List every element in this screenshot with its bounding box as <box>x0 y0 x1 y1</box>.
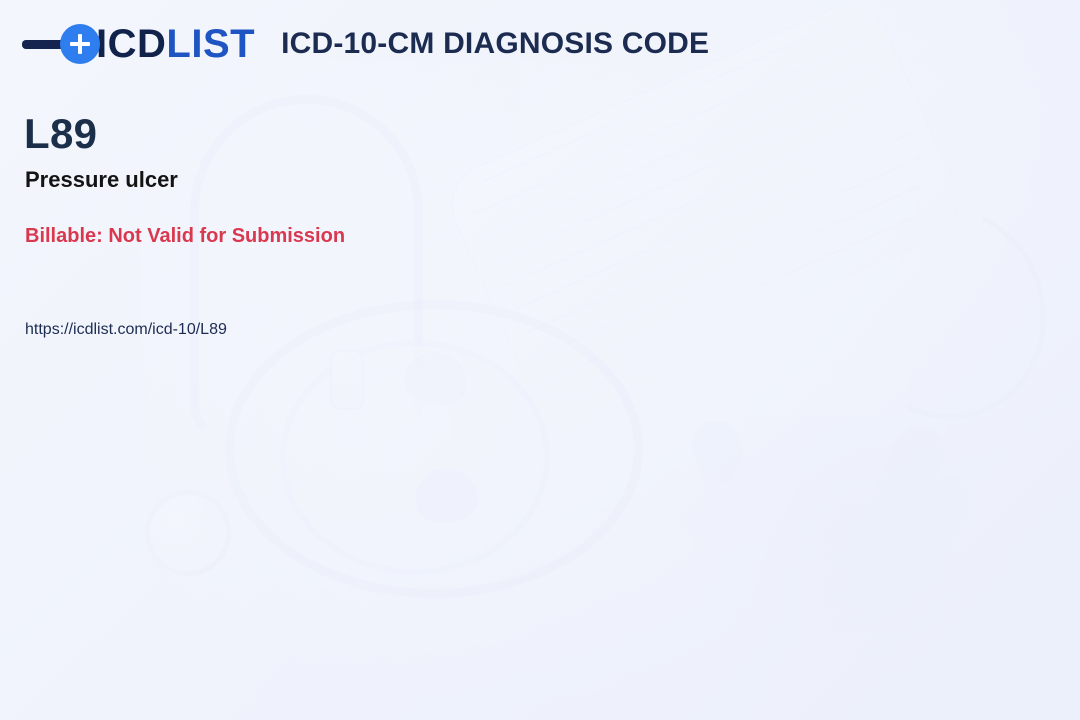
hand-finger-icon <box>686 415 763 525</box>
hand-icon <box>690 415 990 715</box>
poster-canvas: ICDLIST ICD-10-CM DIAGNOSIS CODE L89 Pre… <box>0 0 1080 720</box>
heart-icon <box>677 444 819 586</box>
hand-finger-icon <box>859 420 952 551</box>
stethoscope-eartip-b-icon <box>412 464 481 526</box>
stethoscope-loop-icon <box>225 300 643 598</box>
plus-icon <box>60 24 100 64</box>
site-logo[interactable]: ICDLIST <box>22 24 255 64</box>
stethoscope-stem-icon <box>330 350 364 410</box>
logo-wordmark: ICDLIST <box>96 24 255 64</box>
stethoscope-chestpiece-icon <box>280 340 550 575</box>
status-badge: Billable: Not Valid for Submission <box>25 224 345 248</box>
light-wash-left <box>140 60 960 700</box>
stethoscope-eartip-a-icon <box>400 346 471 410</box>
stethoscope-bell-icon <box>145 490 231 576</box>
mask-ear-loop-icon <box>814 177 1075 447</box>
page-title: ICD-10-CM DIAGNOSIS CODE <box>281 27 709 61</box>
logo-word-list: LIST <box>166 22 255 66</box>
hand-finger-icon <box>877 466 983 599</box>
diagnosis-code: L89 <box>24 112 97 156</box>
header: ICDLIST ICD-10-CM DIAGNOSIS CODE <box>22 24 709 64</box>
logo-word-icd: ICD <box>96 22 166 66</box>
diagnosis-description: Pressure ulcer <box>25 167 178 193</box>
stethoscope-tubing-icon <box>190 95 423 443</box>
background-veil <box>0 0 1080 720</box>
background-artwork <box>0 0 1080 720</box>
source-url[interactable]: https://icdlist.com/icd-10/L89 <box>25 320 227 339</box>
plus-icon-vertical-bar <box>78 34 82 54</box>
light-wash-right <box>520 0 1080 480</box>
